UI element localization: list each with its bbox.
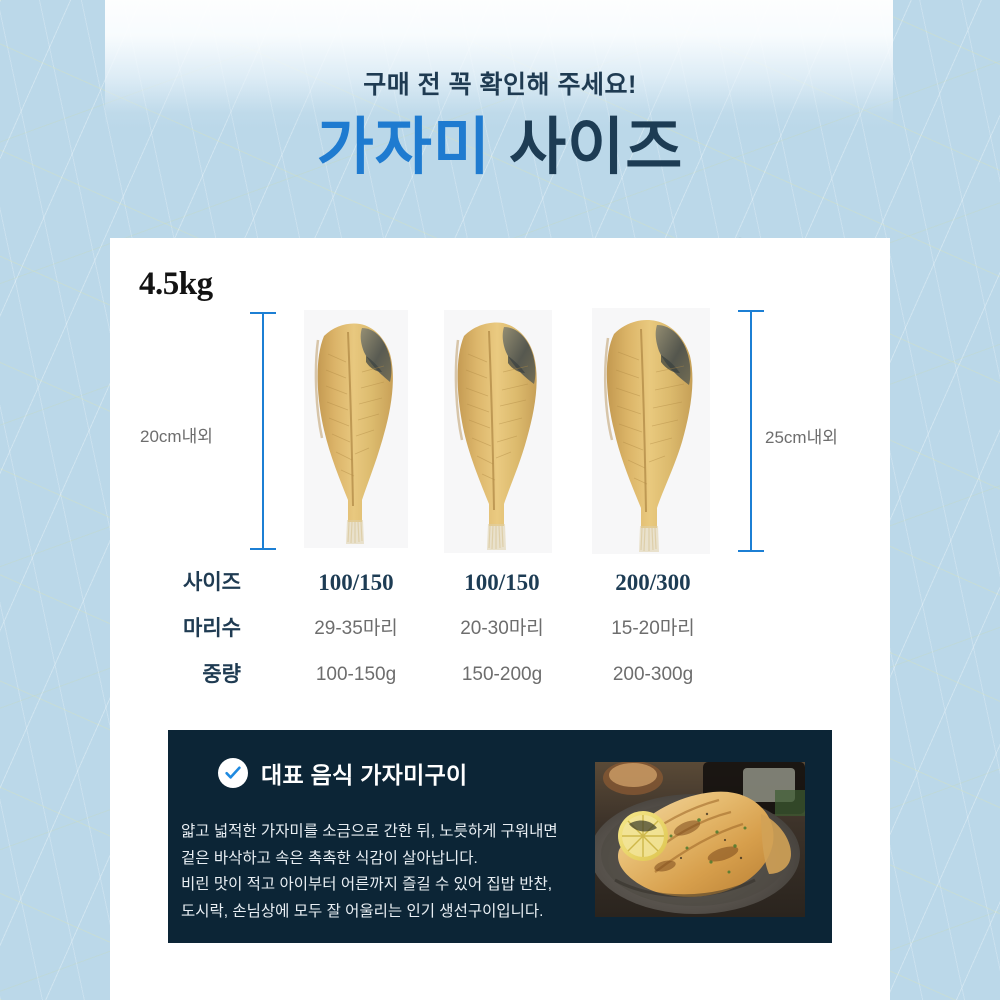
measurement-bracket-right	[738, 310, 764, 552]
info-body-line-2: 겉은 바삭하고 속은 촉촉한 식감이 살아납니다.	[181, 846, 601, 873]
measurement-label-left: 20cm내외	[140, 422, 213, 447]
info-body-line-4: 도시락, 손님상에 모두 잘 어울리는 인기 생선구이입니다.	[181, 899, 601, 926]
cell-count-2: 20-30마리	[432, 606, 572, 652]
cell-weight-1: 100-150g	[286, 652, 426, 698]
info-body-line-3: 비린 맛이 적고 아이부터 어른까지 즐길 수 있어 집밥 반찬,	[181, 872, 601, 899]
info-body-line-1: 얇고 넓적한 가자미를 소금으로 간한 뒤, 노릇하게 구워내면	[181, 819, 601, 846]
bracket-cap-bottom	[738, 550, 764, 552]
cell-count-1: 29-35마리	[286, 606, 426, 652]
fish-image-large	[592, 308, 710, 554]
bracket-cap-bottom	[250, 548, 276, 550]
page-background: 구매 전 꼭 확인해 주세요! 가자미 사이즈 4.5kg 20cm내외 25c…	[0, 0, 1000, 1000]
page-title-primary: 가자미	[317, 113, 491, 182]
size-chart-card: 4.5kg 20cm내외 25cm내외	[110, 238, 890, 1000]
row-label-weight: 중량	[110, 652, 241, 698]
fish-image-medium	[444, 310, 552, 553]
spec-table: 사이즈 100/150 100/150 200/300 마리수 29-35마리 …	[110, 560, 890, 698]
page-subtitle: 구매 전 꼭 확인해 주세요!	[0, 73, 1000, 98]
cell-size-1: 100/150	[286, 560, 426, 606]
cell-size-2: 100/150	[432, 560, 572, 606]
info-panel: 대표 음식 가자미구이 얇고 넓적한 가자미를 소금으로 간한 뒤, 노릇하게 …	[168, 730, 832, 943]
row-label-count: 마리수	[110, 606, 241, 652]
cell-count-3: 15-20마리	[578, 606, 728, 652]
table-row-count: 마리수 29-35마리 20-30마리 15-20마리	[110, 606, 890, 652]
info-panel-title: 대표 음식 가자미구이	[261, 756, 468, 790]
bracket-stem	[750, 310, 752, 552]
fish-image-small	[304, 310, 408, 548]
page-title-secondary: 사이즈	[509, 113, 683, 182]
page-title: 가자미 사이즈	[0, 115, 1000, 180]
cell-weight-2: 150-200g	[432, 652, 572, 698]
info-panel-header: 대표 음식 가자미구이	[218, 756, 468, 790]
cell-weight-3: 200-300g	[578, 652, 728, 698]
grilled-flounder-photo	[595, 762, 805, 917]
info-panel-body: 얇고 넓적한 가자미를 소금으로 간한 뒤, 노릇하게 구워내면 겉은 바삭하고…	[181, 819, 601, 926]
title-block: 구매 전 꼭 확인해 주세요! 가자미 사이즈	[0, 0, 1000, 180]
bracket-stem	[262, 312, 264, 550]
table-row-size: 사이즈 100/150 100/150 200/300	[110, 560, 890, 606]
measurement-bracket-left	[250, 312, 276, 550]
row-label-size: 사이즈	[110, 560, 241, 606]
check-circle-icon	[218, 758, 248, 788]
table-row-weight: 중량 100-150g 150-200g 200-300g	[110, 652, 890, 698]
cell-size-3: 200/300	[578, 560, 728, 606]
package-weight-label: 4.5kg	[139, 266, 213, 303]
measurement-label-right: 25cm내외	[765, 423, 838, 448]
